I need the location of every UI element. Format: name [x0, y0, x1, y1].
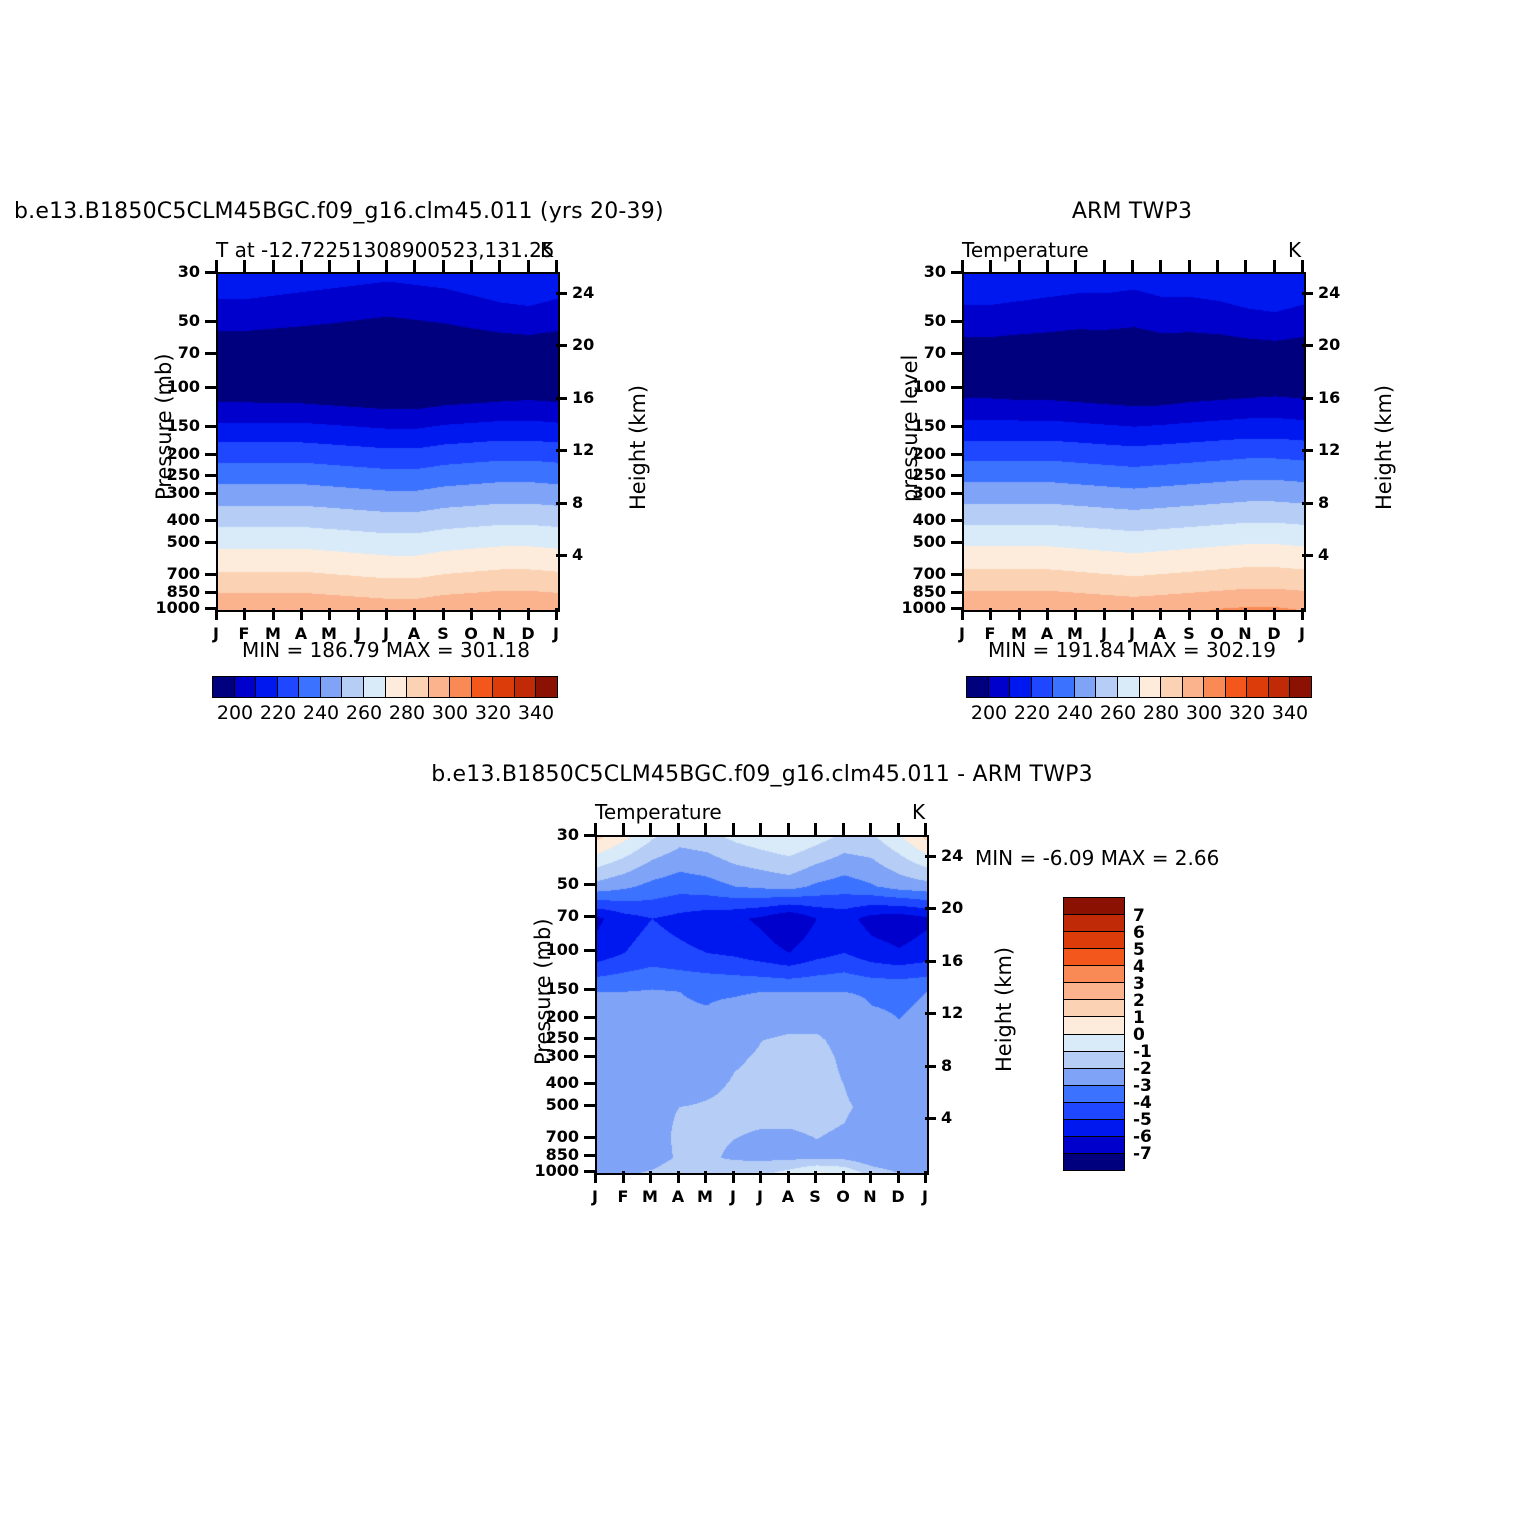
- obs-contour-canvas: [964, 274, 1304, 610]
- model-colorbar-swatch-3[interactable]: [278, 677, 300, 697]
- obs-colorbar-swatch-13[interactable]: [1247, 677, 1269, 697]
- diff-toptick-1: [622, 823, 625, 835]
- diff-height-tick-label-8: 8: [941, 1056, 952, 1075]
- obs-colorbar-swatch-7[interactable]: [1118, 677, 1140, 697]
- obs-colorbar-swatch-15[interactable]: [1290, 677, 1311, 697]
- diff-bottick-2: [649, 1171, 652, 1183]
- obs-toptick-0: [961, 260, 964, 272]
- obs-toptick-2: [1018, 260, 1021, 272]
- diff-colorbar-swatch-2[interactable]: [1064, 932, 1124, 949]
- obs-pressure-tick-70: [951, 352, 962, 355]
- obs-contour-plot[interactable]: [962, 272, 1306, 612]
- model-height-tick-12: [556, 449, 567, 452]
- model-height-tick-label-20: 20: [572, 335, 594, 354]
- diff-colorbar-swatch-5[interactable]: [1064, 983, 1124, 1000]
- obs-bottick-3: [1046, 608, 1049, 620]
- obs-bottick-9: [1216, 608, 1219, 620]
- diff-colorbar-label-neg7: -7: [1133, 1144, 1152, 1164]
- model-colorbar-label-200: 200: [217, 702, 253, 724]
- obs-colorbar-label-220: 220: [1014, 702, 1050, 724]
- diff-month-label-6: J: [757, 1187, 763, 1206]
- diff-pressure-tick-label-700: 700: [546, 1127, 579, 1146]
- obs-bottick-11: [1273, 608, 1276, 620]
- diff-toptick-7: [787, 823, 790, 835]
- model-height-tick-4: [556, 554, 567, 557]
- model-bottick-4: [328, 608, 331, 620]
- diff-colorbar-swatch-11[interactable]: [1064, 1086, 1124, 1103]
- diff-toptick-8: [814, 823, 817, 835]
- model-colorbar-swatch-13[interactable]: [493, 677, 515, 697]
- model-contour-canvas: [218, 274, 558, 610]
- obs-pressure-tick-50: [951, 320, 962, 323]
- obs-toptick-11: [1273, 260, 1276, 272]
- obs-height-tick-label-20: 20: [1318, 335, 1340, 354]
- diff-pressure-tick-label-100: 100: [546, 940, 579, 959]
- diff-bottick-6: [759, 1171, 762, 1183]
- model-bottick-8: [442, 608, 445, 620]
- model-bottick-9: [470, 608, 473, 620]
- obs-bottick-6: [1131, 608, 1134, 620]
- model-height-tick-label-24: 24: [572, 283, 594, 302]
- model-pressure-tick-label-1000: 1000: [155, 598, 200, 617]
- model-height-tick-20: [556, 344, 567, 347]
- model-toptick-3: [300, 260, 303, 272]
- diff-colorbar-swatch-13[interactable]: [1064, 1120, 1124, 1137]
- model-bottick-6: [385, 608, 388, 620]
- obs-colorbar-swatch-3[interactable]: [1032, 677, 1054, 697]
- obs-colorbar-swatch-9[interactable]: [1161, 677, 1183, 697]
- diff-pressure-tick-100: [584, 949, 595, 952]
- model-colorbar-swatch-4[interactable]: [299, 677, 321, 697]
- obs-pressure-tick-100: [951, 386, 962, 389]
- obs-colorbar-swatch-1[interactable]: [989, 677, 1011, 697]
- model-panel-subtitle-right: K: [540, 238, 553, 262]
- diff-height-tick-label-16: 16: [941, 951, 963, 970]
- model-colorbar-swatch-8[interactable]: [386, 677, 408, 697]
- obs-pressure-tick-label-70: 70: [924, 343, 946, 362]
- obs-toptick-10: [1244, 260, 1247, 272]
- obs-pressure-tick-400: [951, 519, 962, 522]
- model-toptick-10: [498, 260, 501, 272]
- obs-height-tick-16: [1302, 397, 1313, 400]
- model-bottick-11: [527, 608, 530, 620]
- model-bottick-7: [413, 608, 416, 620]
- model-toptick-2: [272, 260, 275, 272]
- model-toptick-6: [385, 260, 388, 272]
- diff-month-label-1: F: [618, 1187, 629, 1206]
- diff-toptick-6: [759, 823, 762, 835]
- model-height-tick-24: [556, 292, 567, 295]
- model-colorbar-swatch-6[interactable]: [342, 677, 364, 697]
- model-colorbar-label-340: 340: [518, 702, 554, 724]
- obs-pressure-tick-label-400: 400: [913, 510, 946, 529]
- diff-pressure-tick-200: [584, 1016, 595, 1019]
- model-colorbar-swatch-9[interactable]: [407, 677, 429, 697]
- diff-colorbar-swatch-15[interactable]: [1064, 1154, 1124, 1170]
- diff-colorbar-swatch-3[interactable]: [1064, 949, 1124, 966]
- model-ylabel-right: Height (km): [626, 385, 650, 510]
- diff-height-tick-label-24: 24: [941, 846, 963, 865]
- model-pressure-tick-200: [205, 453, 216, 456]
- diff-toptick-0: [594, 823, 597, 835]
- model-height-tick-label-12: 12: [572, 440, 594, 459]
- model-pressure-tick-50: [205, 320, 216, 323]
- model-colorbar-label-280: 280: [389, 702, 425, 724]
- diff-pressure-tick-label-50: 50: [557, 874, 579, 893]
- obs-pressure-tick-label-50: 50: [924, 311, 946, 330]
- diff-month-label-5: J: [730, 1187, 736, 1206]
- obs-toptick-9: [1216, 260, 1219, 272]
- diff-height-tick-12: [925, 1012, 936, 1015]
- obs-minmax: MIN = 191.84 MAX = 302.19: [962, 638, 1302, 662]
- obs-colorbar-swatch-2[interactable]: [1010, 677, 1032, 697]
- diff-colorbar-swatch-10[interactable]: [1064, 1069, 1124, 1086]
- diff-toptick-5: [732, 823, 735, 835]
- diff-colorbar-swatch-14[interactable]: [1064, 1137, 1124, 1154]
- diff-toptick-10: [869, 823, 872, 835]
- diff-month-label-3: A: [672, 1187, 684, 1206]
- obs-colorbar-label-340: 340: [1272, 702, 1308, 724]
- obs-height-tick-20: [1302, 344, 1313, 347]
- model-colorbar-swatch-12[interactable]: [472, 677, 494, 697]
- diff-contour-canvas: [597, 837, 927, 1173]
- model-pressure-tick-700: [205, 573, 216, 576]
- obs-bottick-10: [1244, 608, 1247, 620]
- model-colorbar-swatch-10[interactable]: [429, 677, 451, 697]
- diff-pressure-tick-500: [584, 1104, 595, 1107]
- diff-panel-title: b.e13.B1850C5CLM45BGC.f09_g16.clm45.011 …: [262, 762, 1262, 787]
- model-bottick-2: [272, 608, 275, 620]
- model-height-tick-label-4: 4: [572, 545, 583, 564]
- diff-bottick-8: [814, 1171, 817, 1183]
- obs-bottick-0: [961, 608, 964, 620]
- model-toptick-8: [442, 260, 445, 272]
- diff-height-tick-20: [925, 907, 936, 910]
- obs-toptick-4: [1074, 260, 1077, 272]
- obs-height-tick-4: [1302, 554, 1313, 557]
- diff-height-tick-8: [925, 1065, 936, 1068]
- obs-colorbar-label-320: 320: [1229, 702, 1265, 724]
- diff-colorbar-swatch-12[interactable]: [1064, 1103, 1124, 1120]
- model-bottick-5: [357, 608, 360, 620]
- model-bottick-0: [215, 608, 218, 620]
- obs-height-tick-label-8: 8: [1318, 493, 1329, 512]
- model-pressure-tick-850: [205, 591, 216, 594]
- obs-height-tick-label-4: 4: [1318, 545, 1329, 564]
- obs-colorbar-swatch-8[interactable]: [1140, 677, 1162, 697]
- diff-pressure-tick-400: [584, 1082, 595, 1085]
- model-pressure-tick-label-250: 250: [167, 465, 200, 484]
- diff-bottick-12: [924, 1171, 927, 1183]
- diff-pressure-tick-700: [584, 1136, 595, 1139]
- diff-toptick-11: [897, 823, 900, 835]
- diff-height-tick-24: [925, 855, 936, 858]
- diff-bottick-10: [869, 1171, 872, 1183]
- diff-pressure-tick-label-200: 200: [546, 1007, 579, 1026]
- model-colorbar[interactable]: [212, 676, 558, 698]
- diff-month-label-12: J: [922, 1187, 928, 1206]
- model-contour-plot[interactable]: [216, 272, 560, 612]
- diff-colorbar-swatch-0[interactable]: [1064, 898, 1124, 915]
- diff-colorbar-swatch-8[interactable]: [1064, 1035, 1124, 1052]
- diff-month-label-11: D: [891, 1187, 904, 1206]
- model-pressure-tick-label-400: 400: [167, 510, 200, 529]
- obs-height-tick-24: [1302, 292, 1313, 295]
- diff-toptick-3: [677, 823, 680, 835]
- obs-height-tick-12: [1302, 449, 1313, 452]
- obs-ylabel-right: Height (km): [1372, 385, 1396, 510]
- diff-panel-subtitle-right: K: [912, 800, 925, 824]
- diff-toptick-9: [842, 823, 845, 835]
- model-pressure-tick-label-70: 70: [178, 343, 200, 362]
- obs-bottick-1: [989, 608, 992, 620]
- diff-pressure-tick-label-300: 300: [546, 1046, 579, 1065]
- model-minmax: MIN = 186.79 MAX = 301.18: [216, 638, 556, 662]
- obs-bottick-7: [1159, 608, 1162, 620]
- obs-height-tick-label-12: 12: [1318, 440, 1340, 459]
- model-toptick-11: [527, 260, 530, 272]
- diff-height-tick-16: [925, 960, 936, 963]
- model-pressure-tick-500: [205, 541, 216, 544]
- obs-colorbar-label-200: 200: [971, 702, 1007, 724]
- obs-pressure-tick-150: [951, 425, 962, 428]
- diff-toptick-4: [704, 823, 707, 835]
- obs-toptick-12: [1301, 260, 1304, 272]
- obs-bottick-8: [1188, 608, 1191, 620]
- obs-colorbar-swatch-10[interactable]: [1183, 677, 1205, 697]
- diff-month-label-4: M: [697, 1187, 713, 1206]
- obs-colorbar-swatch-11[interactable]: [1204, 677, 1226, 697]
- diff-panel-subtitle-left: Temperature: [595, 800, 722, 824]
- diff-height-tick-label-20: 20: [941, 898, 963, 917]
- obs-colorbar-label-240: 240: [1057, 702, 1093, 724]
- obs-pressure-tick-label-100: 100: [913, 377, 946, 396]
- diff-bottick-4: [704, 1171, 707, 1183]
- model-toptick-1: [243, 260, 246, 272]
- model-colorbar-swatch-5[interactable]: [321, 677, 343, 697]
- model-toptick-9: [470, 260, 473, 272]
- model-colorbar-label-240: 240: [303, 702, 339, 724]
- obs-height-tick-8: [1302, 502, 1313, 505]
- diff-pressure-tick-50: [584, 883, 595, 886]
- obs-pressure-tick-200: [951, 453, 962, 456]
- obs-pressure-tick-label-500: 500: [913, 532, 946, 551]
- model-colorbar-label-300: 300: [432, 702, 468, 724]
- model-panel-subtitle-left: T at -12.72251308900523,131.25: [216, 238, 555, 262]
- diff-pressure-tick-70: [584, 915, 595, 918]
- model-toptick-7: [413, 260, 416, 272]
- diff-bottick-5: [732, 1171, 735, 1183]
- model-pressure-tick-label-700: 700: [167, 564, 200, 583]
- model-colorbar-label-260: 260: [346, 702, 382, 724]
- model-panel-title: b.e13.B1850C5CLM45BGC.f09_g16.clm45.011 …: [14, 199, 664, 224]
- model-colorbar-label-320: 320: [475, 702, 511, 724]
- model-colorbar-swatch-1[interactable]: [235, 677, 257, 697]
- diff-pressure-tick-label-400: 400: [546, 1073, 579, 1092]
- obs-colorbar-label-300: 300: [1186, 702, 1222, 724]
- diff-ylabel-right: Height (km): [992, 947, 1016, 1072]
- obs-pressure-tick-500: [951, 541, 962, 544]
- diff-colorbar[interactable]: [1063, 897, 1125, 1171]
- model-colorbar-swatch-0[interactable]: [213, 677, 235, 697]
- diff-bottick-0: [594, 1171, 597, 1183]
- diff-pressure-tick-label-1000: 1000: [534, 1161, 579, 1180]
- diff-bottick-1: [622, 1171, 625, 1183]
- model-height-tick-16: [556, 397, 567, 400]
- diff-month-label-10: N: [863, 1187, 876, 1206]
- model-pressure-tick-100: [205, 386, 216, 389]
- diff-colorbar-swatch-7[interactable]: [1064, 1017, 1124, 1034]
- model-pressure-tick-300: [205, 492, 216, 495]
- obs-colorbar-swatch-6[interactable]: [1096, 677, 1118, 697]
- obs-height-tick-label-24: 24: [1318, 283, 1340, 302]
- obs-pressure-tick-250: [951, 474, 962, 477]
- diff-pressure-tick-label-250: 250: [546, 1028, 579, 1047]
- model-toptick-0: [215, 260, 218, 272]
- obs-bottick-5: [1103, 608, 1106, 620]
- diff-colorbar-swatch-1[interactable]: [1064, 915, 1124, 932]
- diff-colorbar-swatch-4[interactable]: [1064, 966, 1124, 983]
- model-colorbar-swatch-2[interactable]: [256, 677, 278, 697]
- obs-toptick-1: [989, 260, 992, 272]
- model-pressure-tick-400: [205, 519, 216, 522]
- diff-month-label-7: A: [782, 1187, 794, 1206]
- model-pressure-tick-150: [205, 425, 216, 428]
- obs-pressure-tick-label-30: 30: [924, 262, 946, 281]
- diff-pressure-tick-150: [584, 988, 595, 991]
- model-pressure-tick-label-150: 150: [167, 416, 200, 435]
- obs-pressure-tick-label-150: 150: [913, 416, 946, 435]
- diff-pressure-tick-label-150: 150: [546, 979, 579, 998]
- model-pressure-tick-label-500: 500: [167, 532, 200, 551]
- obs-panel-title: ARM TWP3: [962, 199, 1302, 224]
- diff-bottick-7: [787, 1171, 790, 1183]
- diff-height-tick-label-12: 12: [941, 1003, 963, 1022]
- model-pressure-tick-70: [205, 352, 216, 355]
- diff-bottick-3: [677, 1171, 680, 1183]
- obs-colorbar-swatch-5[interactable]: [1075, 677, 1097, 697]
- obs-pressure-tick-label-300: 300: [913, 483, 946, 502]
- model-pressure-tick-label-100: 100: [167, 377, 200, 396]
- model-pressure-tick-label-300: 300: [167, 483, 200, 502]
- model-height-tick-8: [556, 502, 567, 505]
- model-toptick-12: [555, 260, 558, 272]
- obs-pressure-tick-850: [951, 591, 962, 594]
- model-height-tick-label-8: 8: [572, 493, 583, 512]
- diff-month-label-0: J: [592, 1187, 598, 1206]
- diff-pressure-tick-label-70: 70: [557, 906, 579, 925]
- diff-bottick-9: [842, 1171, 845, 1183]
- model-colorbar-swatch-11[interactable]: [450, 677, 472, 697]
- obs-height-tick-label-16: 16: [1318, 388, 1340, 407]
- obs-bottick-4: [1074, 608, 1077, 620]
- diff-pressure-tick-300: [584, 1055, 595, 1058]
- obs-colorbar-swatch-14[interactable]: [1269, 677, 1291, 697]
- model-colorbar-label-220: 220: [260, 702, 296, 724]
- model-pressure-tick-250: [205, 474, 216, 477]
- diff-pressure-tick-250: [584, 1037, 595, 1040]
- obs-toptick-5: [1103, 260, 1106, 272]
- diff-contour-plot[interactable]: [595, 835, 929, 1175]
- model-toptick-4: [328, 260, 331, 272]
- diff-month-label-8: S: [809, 1187, 821, 1206]
- diff-toptick-2: [649, 823, 652, 835]
- diff-minmax: MIN = -6.09 MAX = 2.66: [975, 846, 1219, 870]
- model-pressure-tick-label-50: 50: [178, 311, 200, 330]
- obs-colorbar-swatch-4[interactable]: [1053, 677, 1075, 697]
- diff-height-tick-4: [925, 1117, 936, 1120]
- diff-pressure-tick-label-500: 500: [546, 1095, 579, 1114]
- model-height-tick-label-16: 16: [572, 388, 594, 407]
- diff-month-label-9: O: [836, 1187, 850, 1206]
- diff-month-label-2: M: [642, 1187, 658, 1206]
- obs-bottick-12: [1301, 608, 1304, 620]
- diff-pressure-tick-label-30: 30: [557, 825, 579, 844]
- diff-colorbar-swatch-6[interactable]: [1064, 1000, 1124, 1017]
- obs-toptick-7: [1159, 260, 1162, 272]
- obs-pressure-tick-label-700: 700: [913, 564, 946, 583]
- obs-colorbar-label-280: 280: [1143, 702, 1179, 724]
- model-pressure-tick-label-200: 200: [167, 444, 200, 463]
- obs-pressure-tick-700: [951, 573, 962, 576]
- obs-panel-subtitle-left: Temperature: [962, 238, 1089, 262]
- model-bottick-12: [555, 608, 558, 620]
- model-colorbar-swatch-14[interactable]: [515, 677, 537, 697]
- obs-toptick-8: [1188, 260, 1191, 272]
- obs-colorbar-swatch-12[interactable]: [1226, 677, 1248, 697]
- model-bottick-1: [243, 608, 246, 620]
- diff-height-tick-label-4: 4: [941, 1108, 952, 1127]
- model-pressure-tick-label-30: 30: [178, 262, 200, 281]
- obs-pressure-tick-label-250: 250: [913, 465, 946, 484]
- obs-pressure-tick-label-1000: 1000: [901, 598, 946, 617]
- obs-panel-subtitle-right: K: [1288, 238, 1301, 262]
- model-bottick-3: [300, 608, 303, 620]
- obs-pressure-tick-300: [951, 492, 962, 495]
- obs-colorbar-swatch-0[interactable]: [967, 677, 989, 697]
- obs-colorbar-label-260: 260: [1100, 702, 1136, 724]
- obs-toptick-3: [1046, 260, 1049, 272]
- model-bottick-10: [498, 608, 501, 620]
- diff-toptick-12: [924, 823, 927, 835]
- obs-bottick-2: [1018, 608, 1021, 620]
- obs-toptick-6: [1131, 260, 1134, 272]
- model-colorbar-swatch-15[interactable]: [536, 677, 557, 697]
- obs-pressure-tick-label-200: 200: [913, 444, 946, 463]
- diff-colorbar-swatch-9[interactable]: [1064, 1052, 1124, 1069]
- diff-pressure-tick-850: [584, 1154, 595, 1157]
- model-toptick-5: [357, 260, 360, 272]
- model-colorbar-swatch-7[interactable]: [364, 677, 386, 697]
- obs-colorbar[interactable]: [966, 676, 1312, 698]
- diff-bottick-11: [897, 1171, 900, 1183]
